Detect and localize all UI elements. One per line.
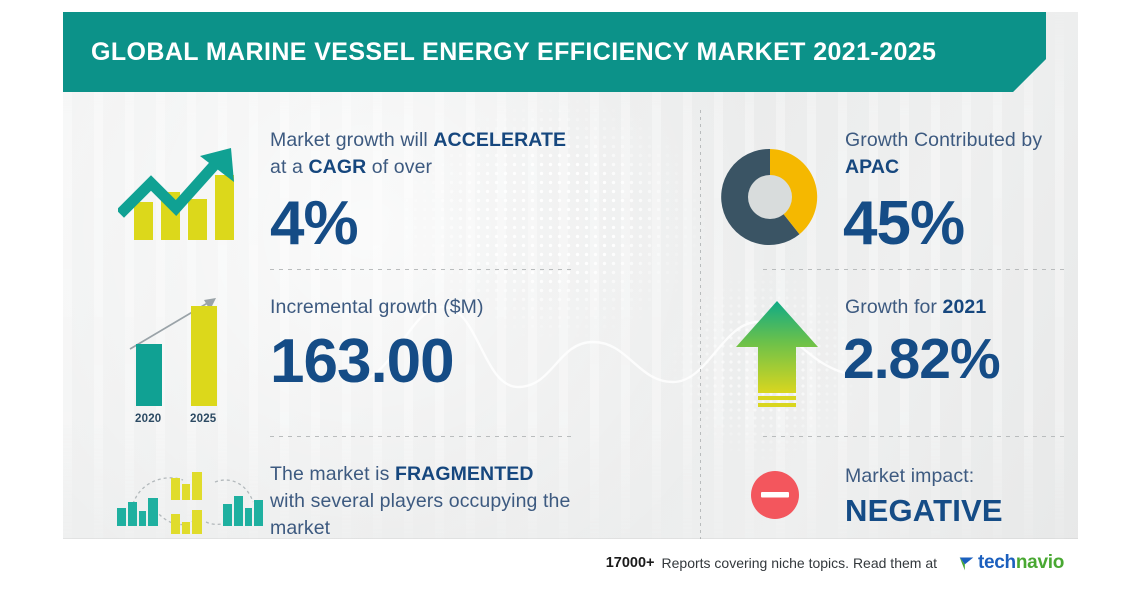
fragmentation-line2: with several players occupying the — [270, 490, 570, 512]
footer-bar: 17000+ Reports covering niche topics. Re… — [63, 539, 1078, 584]
yearly-growth-label-bold: 2021 — [943, 296, 987, 318]
technavio-wordmark: technavio — [978, 552, 1064, 574]
cell-cagr: Market growth will ACCELERATE at a CAGR … — [63, 110, 700, 269]
bar-year-label-2020: 2020 — [135, 413, 161, 425]
region-label-pre: Growth Contributed by — [845, 129, 1042, 151]
fragmentation-line3: market — [270, 517, 330, 539]
fragmentation-line1-bold: FRAGMENTED — [395, 463, 534, 485]
yearly-growth-value: 2.82% — [843, 331, 1000, 388]
cagr-line2-pre: at a — [270, 156, 308, 178]
cell-yearly-growth: Growth for 2021 2.82% — [700, 269, 1078, 436]
impact-label: Market impact: — [845, 463, 974, 490]
technavio-wordmark-tech: tech — [978, 552, 1016, 573]
technavio-wordmark-navio: navio — [1016, 552, 1064, 573]
buildings-network-icon — [111, 464, 266, 540]
cell-market-impact: Market impact: NEGATIVE — [700, 436, 1078, 547]
cagr-headline: Market growth will ACCELERATE at a CAGR … — [270, 127, 670, 181]
region-label-bold: APAC — [845, 156, 899, 178]
impact-value: NEGATIVE — [845, 493, 1003, 529]
yearly-growth-label: Growth for 2021 — [845, 294, 986, 321]
up-arrow-icon — [732, 297, 822, 413]
footer-report-count: 17000+ — [606, 555, 655, 571]
footer-message: Reports covering niche topics. Read them… — [662, 555, 937, 571]
technavio-arrow-icon — [958, 555, 975, 572]
content-panel: GLOBAL MARINE VESSEL ENERGY EFFICIENCY M… — [63, 12, 1078, 584]
bar-year-label-2025: 2025 — [190, 413, 216, 425]
cell-region-contribution: Growth Contributed by APAC 45% — [700, 110, 1078, 269]
cell-fragmentation: The market is FRAGMENTED with several pl… — [63, 436, 700, 547]
cell-incremental-growth: 2020 2025 Incremental growth ($M) 163.00 — [63, 269, 700, 436]
infographic-canvas: GLOBAL MARINE VESSEL ENERGY EFFICIENCY M… — [0, 0, 1140, 596]
fragmentation-text: The market is FRAGMENTED with several pl… — [270, 461, 670, 542]
technavio-logo[interactable]: technavio — [958, 552, 1064, 574]
cagr-value: 4% — [270, 193, 358, 255]
two-bars-trend-icon — [118, 287, 243, 417]
page-title: GLOBAL MARINE VESSEL ENERGY EFFICIENCY M… — [91, 38, 936, 67]
cagr-line1-bold: ACCELERATE — [433, 129, 566, 151]
minus-circle-icon — [748, 468, 802, 522]
donut-chart-icon — [718, 145, 822, 249]
fragmentation-line1-pre: The market is — [270, 463, 395, 485]
yearly-growth-label-pre: Growth for — [845, 296, 943, 318]
incremental-value: 163.00 — [270, 331, 454, 393]
incremental-label: Incremental growth ($M) — [270, 294, 484, 321]
cagr-line2-bold: CAGR — [308, 156, 366, 178]
cagr-line2-post: of over — [366, 156, 432, 178]
cagr-line1-pre: Market growth will — [270, 129, 433, 151]
region-headline: Growth Contributed by APAC — [845, 127, 1078, 181]
growth-bar-chart-arrow-icon — [118, 142, 243, 242]
region-value: 45% — [843, 193, 964, 255]
